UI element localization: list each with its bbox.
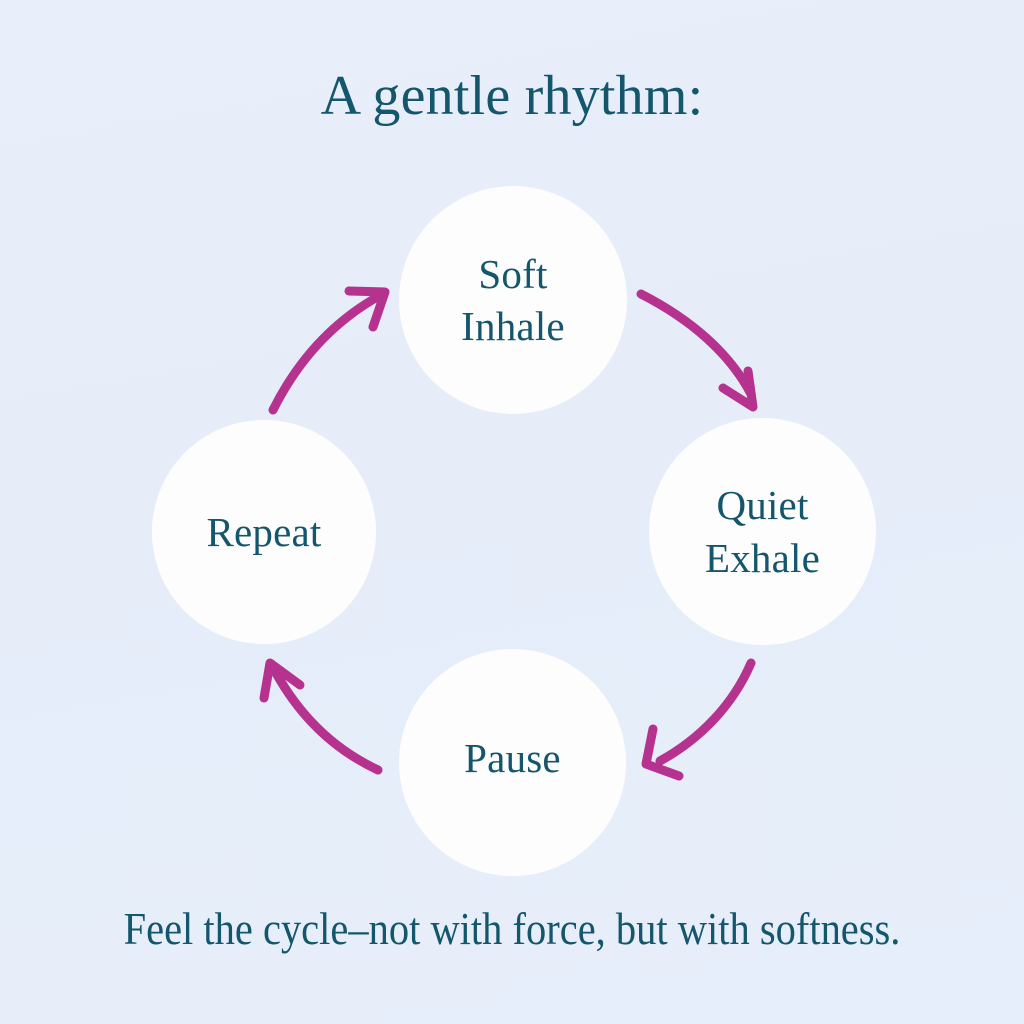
- cycle-node-soft-inhale[interactable]: Soft Inhale: [399, 186, 627, 414]
- cycle-node-quiet-exhale[interactable]: Quiet Exhale: [649, 418, 876, 645]
- cycle-diagram: Soft Inhale Quiet Exhale Pause Repeat: [0, 0, 1024, 1024]
- page-caption: Feel the cycle–not with force, but with …: [61, 905, 962, 953]
- cycle-node-label: Soft Inhale: [461, 248, 565, 353]
- cycle-node-label: Pause: [464, 732, 561, 784]
- cycle-node-label: Quiet Exhale: [705, 479, 820, 584]
- arrow-pause-to-repeat: [264, 663, 378, 770]
- cycle-node-repeat[interactable]: Repeat: [152, 420, 376, 644]
- cycle-node-label: Repeat: [206, 506, 321, 558]
- breathing-cycle-infographic: A gentle rhythm:: [0, 0, 1024, 1024]
- arrow-repeat-to-inhale: [273, 291, 385, 410]
- cycle-node-pause[interactable]: Pause: [399, 649, 626, 876]
- arrow-inhale-to-exhale: [641, 294, 753, 407]
- arrow-exhale-to-pause: [646, 663, 751, 776]
